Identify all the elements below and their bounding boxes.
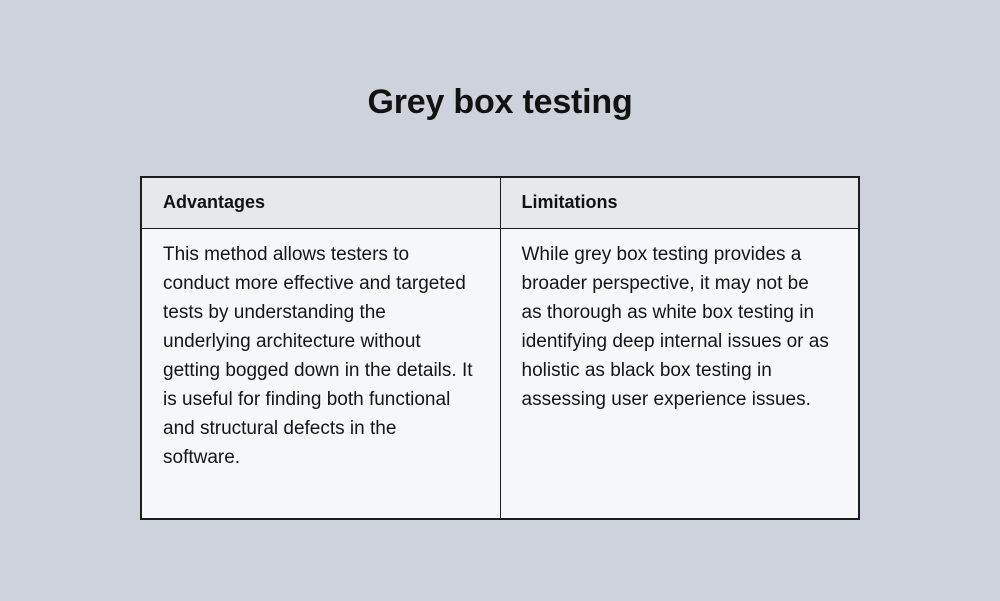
cell-advantages: This method allows testers to conduct mo… <box>141 229 500 519</box>
cell-limitations: While grey box testing provides a broade… <box>500 229 859 519</box>
cell-advantages-text: This method allows testers to conduct mo… <box>163 240 474 472</box>
column-header-limitations: Limitations <box>500 177 859 229</box>
table-row: This method allows testers to conduct mo… <box>141 229 859 519</box>
cell-limitations-text: While grey box testing provides a broade… <box>522 240 833 414</box>
table-header-row: Advantages Limitations <box>141 177 859 229</box>
page-root: Grey box testing Advantages Limitations … <box>0 0 1000 601</box>
page-title: Grey box testing <box>0 80 1000 124</box>
column-header-advantages: Advantages <box>141 177 500 229</box>
comparison-table: Advantages Limitations This method allow… <box>140 176 860 520</box>
table-body: This method allows testers to conduct mo… <box>141 229 859 519</box>
table-header: Advantages Limitations <box>141 177 859 229</box>
